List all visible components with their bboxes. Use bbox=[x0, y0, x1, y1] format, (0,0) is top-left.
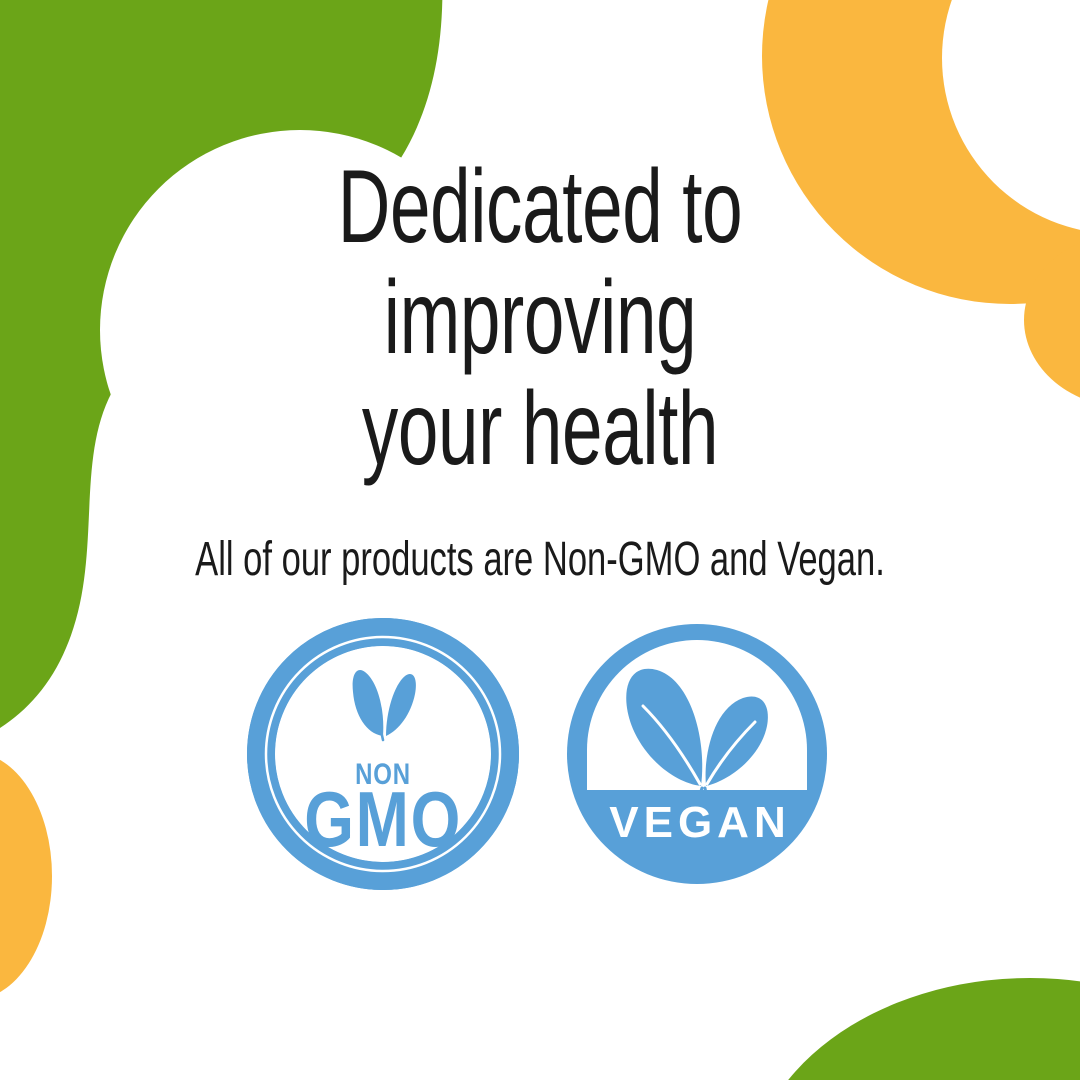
certification-badges: NON GMO bbox=[0, 618, 1080, 890]
subtitle-text: All of our products are Non-GMO and Vega… bbox=[180, 533, 900, 587]
poster-canvas: Dedicated to improving your health All o… bbox=[0, 0, 1080, 1080]
non-gmo-badge: NON GMO bbox=[247, 618, 519, 890]
vegan-seal-icon: VEGAN bbox=[561, 618, 833, 890]
page-title: Dedicated to improving your health bbox=[309, 152, 771, 485]
non-gmo-line2: GMO bbox=[304, 776, 462, 863]
content-column: Dedicated to improving your health All o… bbox=[0, 0, 1080, 1080]
non-gmo-seal-icon: NON GMO bbox=[247, 618, 519, 890]
vegan-label: VEGAN bbox=[609, 798, 790, 847]
vegan-badge: VEGAN bbox=[561, 618, 833, 890]
